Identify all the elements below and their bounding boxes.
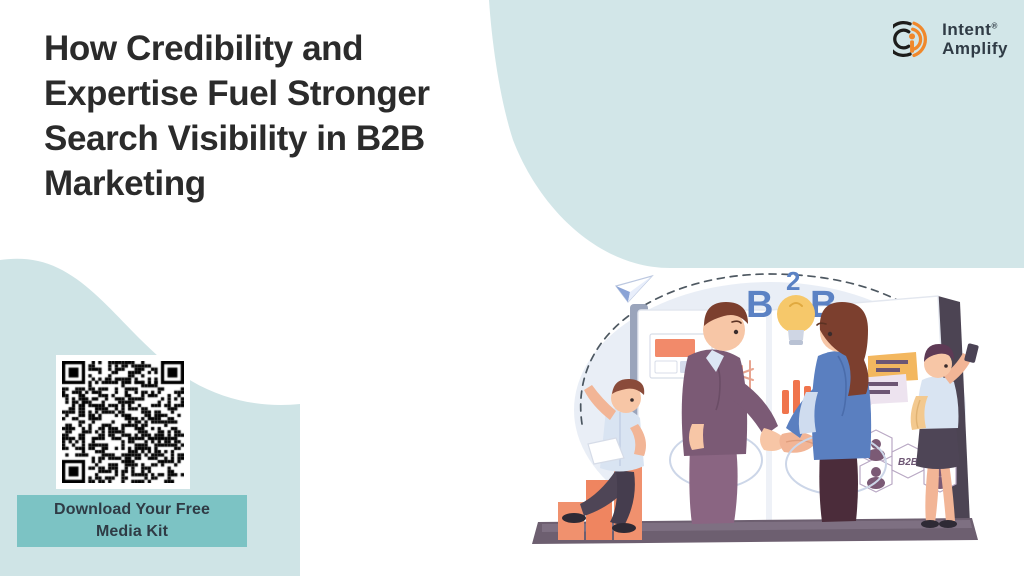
logo-line-amplify: Amplify bbox=[942, 40, 1008, 57]
page-title: How Credibility and Expertise Fuel Stron… bbox=[44, 26, 514, 207]
signal-waves-icon bbox=[893, 18, 935, 60]
banner-root: How Credibility and Expertise Fuel Stron… bbox=[0, 0, 1024, 576]
registered-mark: ® bbox=[991, 21, 997, 30]
qr-code[interactable] bbox=[56, 355, 190, 489]
b2b-superscript: 2 bbox=[786, 266, 800, 296]
download-media-kit-button[interactable]: Download Your Free Media Kit bbox=[17, 495, 247, 547]
brand-logo: Intent® Amplify bbox=[893, 18, 1008, 60]
b2b-letter-first: B bbox=[746, 284, 773, 326]
b2b-handshake-laptop-illustration: B 2 B bbox=[520, 252, 1024, 572]
seated-man-with-laptop bbox=[558, 379, 646, 540]
logo-wordmark: Intent® Amplify bbox=[942, 21, 1008, 57]
hex-b2b-badge: B2B bbox=[898, 457, 918, 468]
qr-code-canvas bbox=[62, 361, 184, 483]
logo-line-intent: Intent® bbox=[942, 21, 1008, 38]
paper-airplane-icon bbox=[616, 276, 652, 302]
